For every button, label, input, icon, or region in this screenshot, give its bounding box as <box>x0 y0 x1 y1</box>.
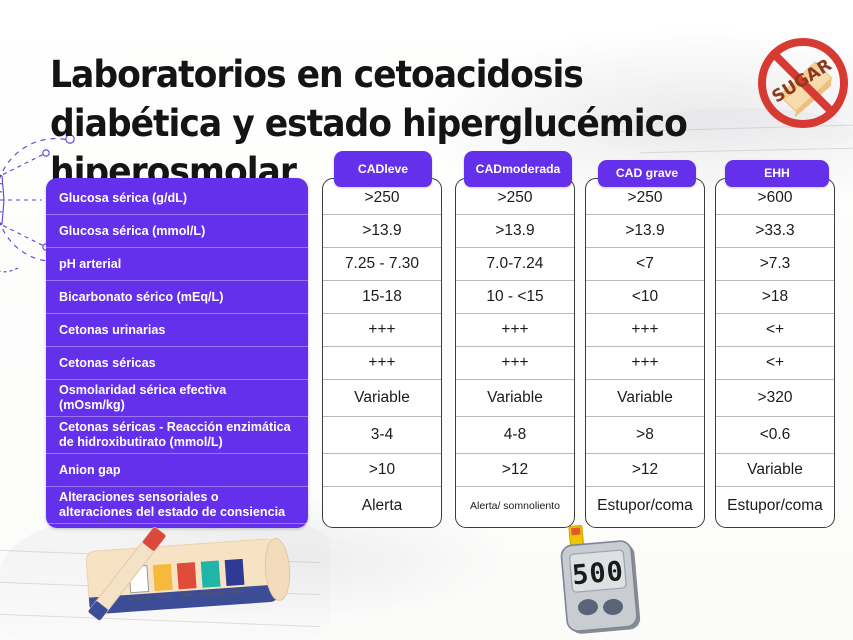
table-cell: >33.3 <box>716 215 834 248</box>
table-cell: 7.25 - 7.30 <box>323 248 441 281</box>
table-cell: Variable <box>716 454 834 487</box>
table-cell: >13.9 <box>586 215 704 248</box>
table-cell: <0.6 <box>716 417 834 454</box>
glucometer-reading: 500 <box>571 556 625 591</box>
table-cell: +++ <box>456 347 574 380</box>
table-cell: <+ <box>716 314 834 347</box>
no-sugar-icon: SUGAR <box>756 34 850 132</box>
table-cell: Variable <box>456 380 574 417</box>
column-header-1[interactable]: CADleve <box>334 151 432 187</box>
column-header-line: leve <box>384 162 408 176</box>
row-label-card: Glucosa sérica (g/dL)Glucosa sérica (mmo… <box>46 178 308 528</box>
column-header-line: CAD grave <box>616 166 678 180</box>
table-cell: +++ <box>323 314 441 347</box>
data-column-card: >250>13.97.25 - 7.3015-18++++++Variable3… <box>322 178 442 528</box>
row-label: Glucosa sérica (mmol/L) <box>46 215 308 248</box>
row-label: Alteraciones sensoriales o alteraciones … <box>46 487 308 524</box>
row-label: Cetonas urinarias <box>46 314 308 347</box>
table-cell: +++ <box>586 314 704 347</box>
table-cell: >8 <box>586 417 704 454</box>
column-header-2[interactable]: CADmoderada <box>464 151 572 187</box>
row-label: pH arterial <box>46 248 308 281</box>
column-header-line: CAD <box>476 162 502 176</box>
column-header-3[interactable]: CAD grave <box>598 160 696 187</box>
table-cell: 10 - <15 <box>456 281 574 314</box>
table-cell: >10 <box>323 454 441 487</box>
table-cell: >7.3 <box>716 248 834 281</box>
column-header-line: EHH <box>764 166 790 180</box>
data-column-3: >250>13.9<7<10++++++Variable>8>12Estupor… <box>585 178 705 528</box>
table-cell: <10 <box>586 281 704 314</box>
column-header-4[interactable]: EHH <box>725 160 829 187</box>
row-label: Bicarbonato sérico (mEq/L) <box>46 281 308 314</box>
data-column-card: >250>13.97.0-7.2410 - <15++++++Variable4… <box>455 178 575 528</box>
table-cell: Alerta <box>323 487 441 524</box>
table-cell: <+ <box>716 347 834 380</box>
data-column-card: >250>13.9<7<10++++++Variable>8>12Estupor… <box>585 178 705 528</box>
glucometer-illustration: 500 <box>548 522 652 640</box>
table-cell: >12 <box>456 454 574 487</box>
column-header-line: moderada <box>502 162 560 176</box>
table-cell: >320 <box>716 380 834 417</box>
ketone-test-kit-illustration: NEGATIVE TRACE SMALL MODERATE LARGE <box>58 520 338 640</box>
table-cell: 4-8 <box>456 417 574 454</box>
table-cell: Variable <box>323 380 441 417</box>
table-cell: 7.0-7.24 <box>456 248 574 281</box>
table-cell: +++ <box>586 347 704 380</box>
table-cell: 15-18 <box>323 281 441 314</box>
table-cell: +++ <box>323 347 441 380</box>
row-label: Cetonas séricas <box>46 347 308 380</box>
table-cell: Estupor/coma <box>716 487 834 524</box>
table-cell: >13.9 <box>456 215 574 248</box>
row-label: Glucosa sérica (g/dL) <box>46 182 308 215</box>
table-cell: <7 <box>586 248 704 281</box>
table-cell: 3-4 <box>323 417 441 454</box>
table-cell: Variable <box>586 380 704 417</box>
column-header-line: CAD <box>358 162 384 176</box>
table-cell: >18 <box>716 281 834 314</box>
data-column-4: >600>33.3>7.3>18<+<+>320<0.6VariableEstu… <box>715 178 835 528</box>
data-column-1: >250>13.97.25 - 7.3015-18++++++Variable3… <box>322 178 442 528</box>
table-cell: Estupor/coma <box>586 487 704 524</box>
table-cell: Alerta/ somnoliento <box>456 487 574 524</box>
table-cell: >12 <box>586 454 704 487</box>
data-column-card: >600>33.3>7.3>18<+<+>320<0.6VariableEstu… <box>715 178 835 528</box>
data-column-2: >250>13.97.0-7.2410 - <15++++++Variable4… <box>455 178 575 528</box>
table-cell: >13.9 <box>323 215 441 248</box>
row-label: Anion gap <box>46 454 308 487</box>
table-cell: +++ <box>456 314 574 347</box>
row-label: Osmolaridad sérica efectiva (mOsm/kg) <box>46 380 308 417</box>
row-label: Cetonas séricas - Reacción enzimática de… <box>46 417 308 454</box>
lab-comparison-table: Glucosa sérica (g/dL)Glucosa sérica (mmo… <box>0 143 853 528</box>
